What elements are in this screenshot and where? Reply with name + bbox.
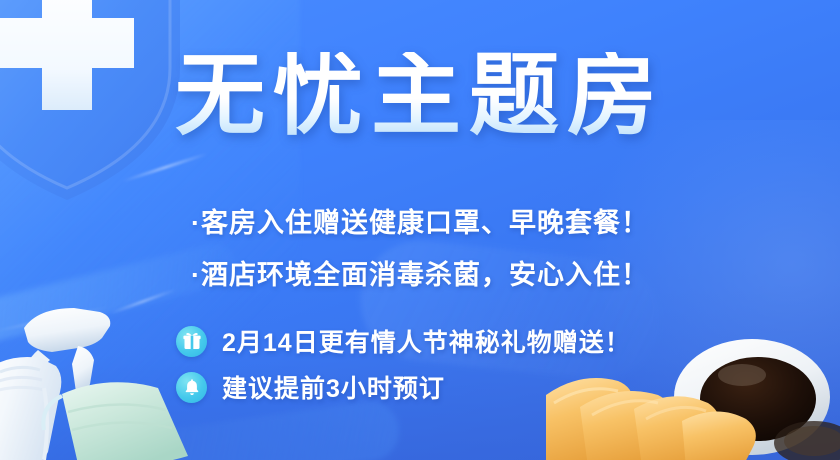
note-row-gift: 2月14日更有情人节神秘礼物赠送！ <box>176 318 631 364</box>
page-title: 无忧主题房 <box>0 52 840 142</box>
note-text: 2月14日更有情人节神秘礼物赠送！ <box>222 323 631 359</box>
gift-icon <box>176 326 207 357</box>
banner-content: 无忧主题房 ·客房入住赠送健康口罩、早晚套餐！ ·酒店环境全面消毒杀菌，安心入住… <box>0 0 840 460</box>
bell-icon <box>176 372 207 403</box>
bullet-item: ·客房入住赠送健康口罩、早晚套餐！ <box>0 197 840 249</box>
note-text: 建议提前3小时预订 <box>222 369 445 405</box>
note-list: 2月14日更有情人节神秘礼物赠送！ 建议提前3小时预订 <box>176 318 631 410</box>
bullet-item: ·酒店环境全面消毒杀菌，安心入住！ <box>0 249 840 301</box>
promo-banner: 无忧主题房 ·客房入住赠送健康口罩、早晚套餐！ ·酒店环境全面消毒杀菌，安心入住… <box>0 0 840 460</box>
bullet-list: ·客房入住赠送健康口罩、早晚套餐！ ·酒店环境全面消毒杀菌，安心入住！ <box>0 197 840 301</box>
note-row-bell: 建议提前3小时预订 <box>176 364 631 410</box>
